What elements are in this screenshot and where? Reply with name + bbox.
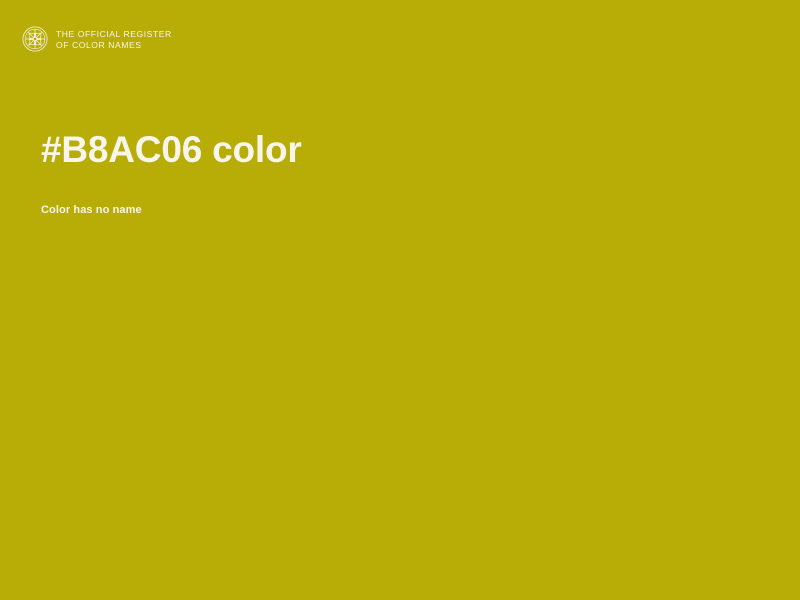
site-logo-link[interactable]: THE OFFICIAL REGISTER OF COLOR NAMES <box>22 26 172 52</box>
register-seal-icon <box>22 26 48 52</box>
color-page: THE OFFICIAL REGISTER OF COLOR NAMES #B8… <box>0 0 800 600</box>
page-title: #B8AC06 color <box>41 126 741 174</box>
wordmark-line-1: THE OFFICIAL REGISTER <box>56 29 172 40</box>
color-name-status: Color has no name <box>41 174 741 218</box>
site-wordmark: THE OFFICIAL REGISTER OF COLOR NAMES <box>56 28 172 51</box>
color-info-block: #B8AC06 color Color has no name <box>41 126 741 218</box>
wordmark-line-2: OF COLOR NAMES <box>56 40 172 51</box>
